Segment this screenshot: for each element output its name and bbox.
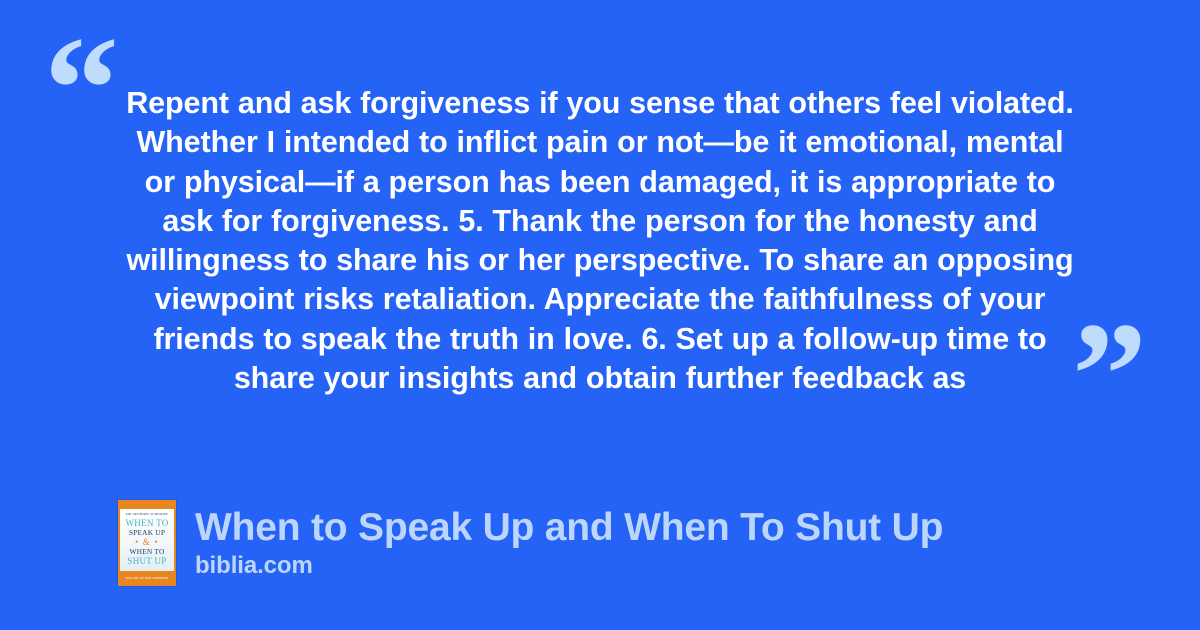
book-cover-line-3: WHEN TO — [130, 547, 165, 556]
attribution-footer: Dr. Michael D Sedler WHEN TO SPEAK UP • … — [118, 500, 943, 586]
book-cover-author: Dr. Michael D Sedler — [126, 512, 168, 516]
footer-text-block: When to Speak Up and When To Shut Up bib… — [195, 506, 943, 580]
quote-card: “ Repent and ask forgiveness if you sens… — [0, 0, 1200, 630]
book-title: When to Speak Up and When To Shut Up — [195, 506, 943, 550]
book-cover-line-2: SPEAK UP — [129, 528, 165, 537]
book-cover-line-1: WHEN TO — [125, 519, 168, 529]
book-cover-subtitle: The Art of Discernment — [125, 576, 168, 580]
opening-quote-mark: “ — [44, 14, 117, 164]
book-cover-line-4: SHUT UP — [127, 556, 166, 566]
book-cover-inner: Dr. Michael D Sedler WHEN TO SPEAK UP • … — [120, 509, 174, 571]
closing-quote-mark: ” — [1072, 300, 1145, 450]
site-name: biblia.com — [195, 552, 943, 580]
book-cover-top-band — [120, 502, 174, 509]
book-cover-ampersand: • & • — [135, 537, 159, 547]
book-cover-thumbnail: Dr. Michael D Sedler WHEN TO SPEAK UP • … — [118, 500, 176, 586]
book-cover-bottom-band: The Art of Discernment — [120, 571, 174, 584]
quote-text: Repent and ask forgiveness if you sense … — [120, 84, 1080, 398]
